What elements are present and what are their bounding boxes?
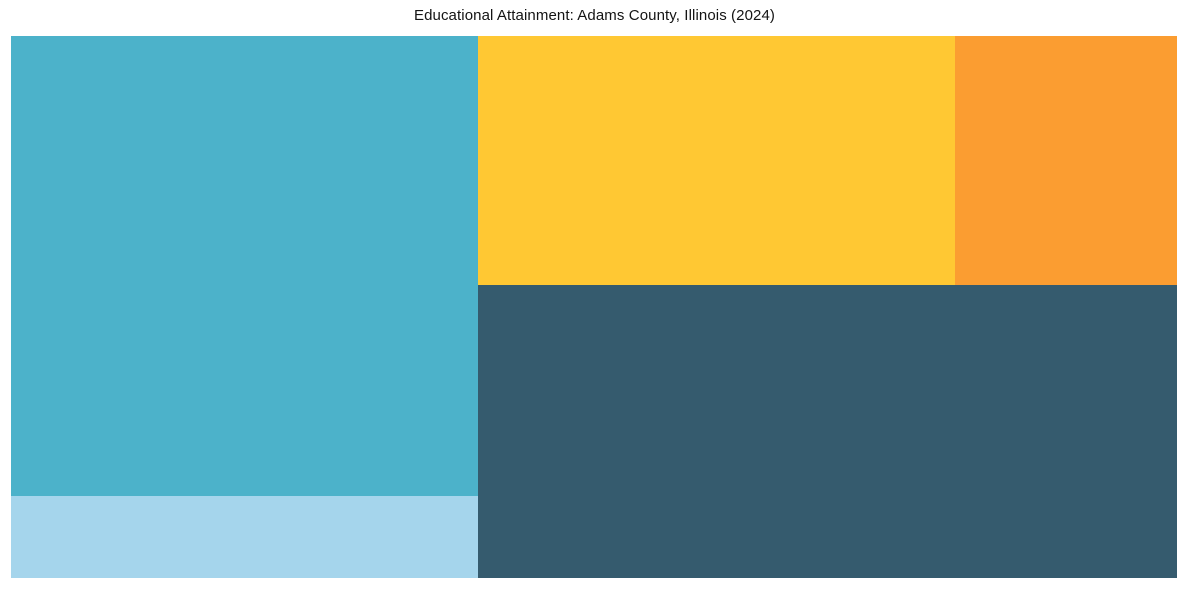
treemap-tile[interactable] (11, 36, 478, 496)
treemap-tile[interactable] (478, 285, 1177, 578)
treemap-tile[interactable] (478, 36, 955, 285)
treemap-tile[interactable] (11, 496, 478, 578)
chart-title: Educational Attainment: Adams County, Il… (0, 7, 1189, 24)
treemap-plot-area (11, 36, 1177, 578)
treemap-tile[interactable] (955, 36, 1177, 285)
treemap-figure: Educational Attainment: Adams County, Il… (0, 0, 1189, 590)
